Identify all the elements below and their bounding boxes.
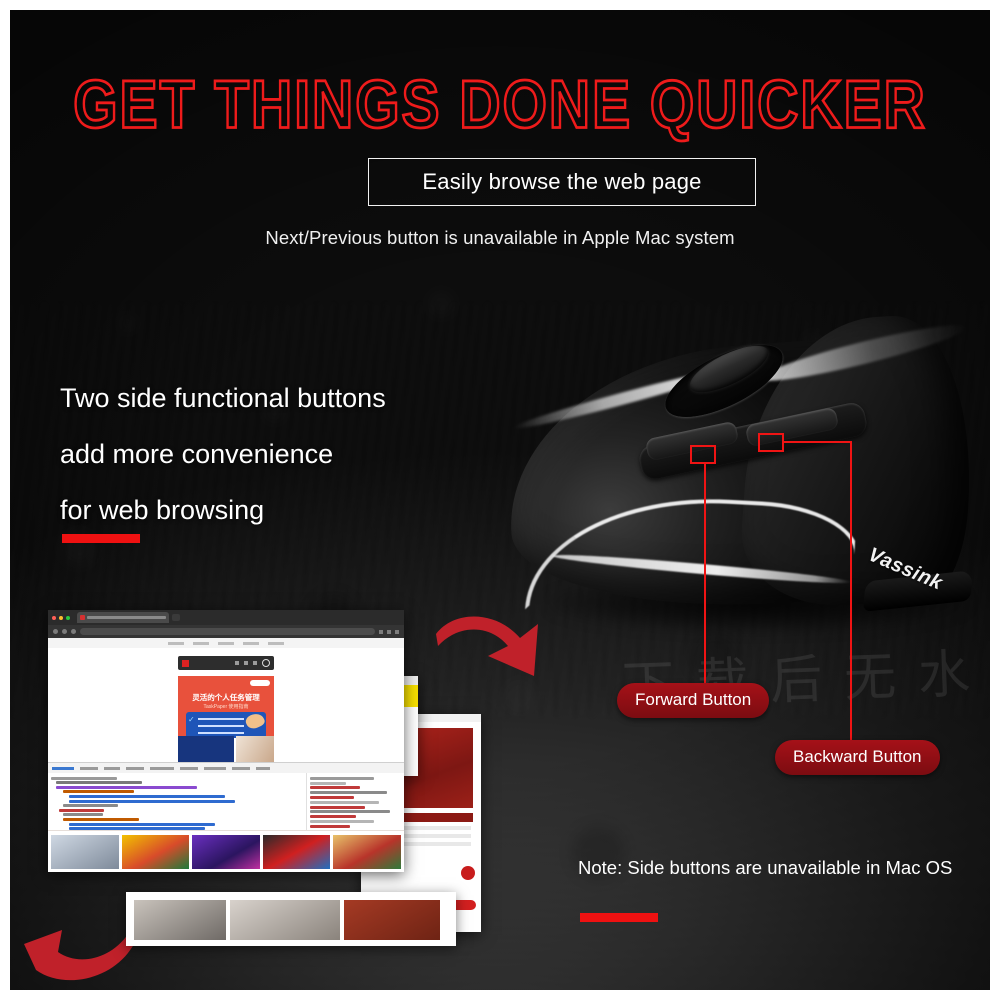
profile-icon[interactable] xyxy=(387,630,391,634)
maximize-icon[interactable] xyxy=(66,616,70,620)
feature-copy-line-3: for web browsing xyxy=(60,482,386,538)
red-accent-bar-note xyxy=(580,913,658,922)
tool-icon[interactable] xyxy=(235,661,239,665)
avatar[interactable] xyxy=(262,659,270,667)
browser-window-stack: 灵活的个人任务管理 TaskPaper 使用指南 ✓ xyxy=(48,610,518,950)
subtitle-box: Easily browse the web page xyxy=(368,158,756,206)
floating-action-icon[interactable] xyxy=(461,866,475,880)
devtools-tab-console[interactable] xyxy=(80,767,98,770)
vertical-mouse-product-image: Vassink xyxy=(508,306,990,666)
thumbnail-item[interactable] xyxy=(263,835,331,869)
hero-subtitle: TaskPaper 使用指南 xyxy=(178,703,274,710)
callout-forward-button: Forward Button xyxy=(617,683,769,718)
address-bar[interactable] xyxy=(80,628,375,635)
devtools-dom-tree[interactable] xyxy=(48,773,306,837)
thumbnail-item[interactable] xyxy=(230,900,340,940)
devtools-tab-network[interactable] xyxy=(126,767,144,770)
minimize-icon[interactable] xyxy=(59,616,63,620)
bookmark-item[interactable] xyxy=(168,642,184,645)
forward-button[interactable] xyxy=(62,629,67,634)
leader-line-backward-horizontal xyxy=(784,441,851,443)
thumbnail-item[interactable] xyxy=(134,900,226,940)
page-title: GET THINGS DONE QUICKER xyxy=(10,72,990,139)
thumbnail-item[interactable] xyxy=(344,900,440,940)
tab-title xyxy=(87,616,166,619)
leader-line-forward xyxy=(704,464,706,686)
web-page-content: 灵活的个人任务管理 TaskPaper 使用指南 ✓ xyxy=(48,648,404,762)
hero-line xyxy=(198,725,244,727)
browser-titlebar xyxy=(48,610,404,625)
close-icon[interactable] xyxy=(52,616,56,620)
bookmark-item[interactable] xyxy=(268,642,284,645)
thumbnail-item[interactable] xyxy=(51,835,119,869)
devtools-tabbar[interactable] xyxy=(48,763,404,773)
feature-copy-line-1: Two side functional buttons xyxy=(60,370,386,426)
thumbnail-strip-lower xyxy=(126,892,456,946)
side-button-marker-icon-forward xyxy=(690,445,716,464)
hero-title: 灵活的个人任务管理 xyxy=(178,692,274,703)
bookmarks-bar[interactable] xyxy=(48,638,404,648)
product-poster: GET THINGS DONE QUICKER Easily browse th… xyxy=(10,10,990,990)
feature-copy-line-2: add more convenience xyxy=(60,426,386,482)
reload-button[interactable] xyxy=(71,629,76,634)
favicon-icon xyxy=(80,615,85,620)
red-accent-bar-left xyxy=(62,534,140,543)
devtools-tab-application[interactable] xyxy=(204,767,226,770)
thumbnail-row xyxy=(48,830,404,872)
devtools-tab-performance[interactable] xyxy=(150,767,174,770)
bookmark-item[interactable] xyxy=(243,642,259,645)
leader-line-backward-vertical xyxy=(850,441,852,751)
callout-backward-button: Backward Button xyxy=(775,740,940,775)
menu-icon[interactable] xyxy=(395,630,399,634)
devtools-tab-elements[interactable] xyxy=(52,767,74,770)
devtools-tab-memory[interactable] xyxy=(180,767,198,770)
bottom-note-text: Note: Side buttons are unavailable in Ma… xyxy=(578,857,952,879)
subtitle-text: Easily browse the web page xyxy=(422,169,701,195)
browser-window-front[interactable]: 灵活的个人任务管理 TaskPaper 使用指南 ✓ xyxy=(48,610,404,872)
back-button[interactable] xyxy=(53,629,58,634)
devtools-tab-more[interactable] xyxy=(256,767,270,770)
hero-line xyxy=(198,732,244,734)
bookmark-item[interactable] xyxy=(218,642,234,645)
page-floating-toolbar[interactable] xyxy=(178,656,274,670)
page-card-blue xyxy=(178,736,234,762)
browser-toolbar xyxy=(48,625,404,638)
browser-tab[interactable] xyxy=(77,612,169,623)
page-secondary-row xyxy=(178,736,274,762)
devtools-tab-sources[interactable] xyxy=(104,767,120,770)
tool-icon[interactable] xyxy=(244,661,248,665)
tool-icon[interactable] xyxy=(253,661,257,665)
side-button-marker-icon-backward xyxy=(758,433,784,452)
thumbnail-item[interactable] xyxy=(122,835,190,869)
devtools-styles-panel[interactable] xyxy=(306,773,404,837)
extension-icon[interactable] xyxy=(379,630,383,634)
devtools-body xyxy=(48,773,404,837)
top-note-text: Next/Previous button is unavailable in A… xyxy=(10,227,990,249)
check-icon: ✓ xyxy=(188,715,195,724)
page-card-photo xyxy=(236,736,274,762)
bookmark-item[interactable] xyxy=(193,642,209,645)
page-hero-card: 灵活的个人任务管理 TaskPaper 使用指南 ✓ xyxy=(178,676,274,738)
feature-copy-block: Two side functional buttons add more con… xyxy=(60,370,386,538)
thumbnail-item[interactable] xyxy=(333,835,401,869)
devtools-tab-security[interactable] xyxy=(232,767,250,770)
hero-line xyxy=(198,718,244,720)
new-tab-button[interactable] xyxy=(172,614,180,621)
logo-icon xyxy=(182,660,189,667)
thumbnail-item[interactable] xyxy=(192,835,260,869)
hero-badge xyxy=(250,680,270,686)
